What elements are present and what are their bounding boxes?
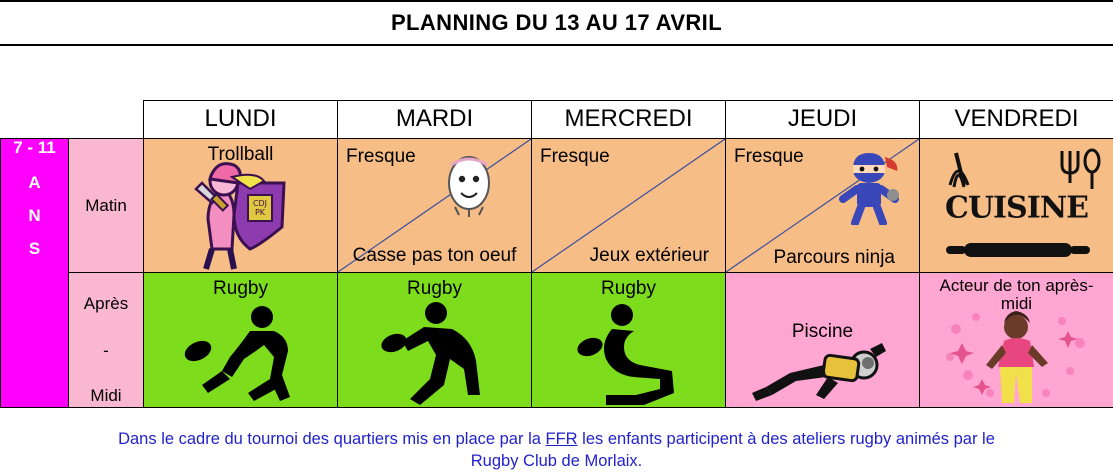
cell-afternoon-jeudi: Piscine bbox=[726, 273, 920, 408]
day-header-label: LUNDI bbox=[144, 101, 337, 137]
day-header-label: JEUDI bbox=[726, 101, 919, 137]
slot-label-line1: Après bbox=[69, 295, 143, 312]
age-letter-s: S bbox=[1, 240, 68, 257]
age-letter-a: A bbox=[1, 174, 68, 191]
rugby-player-icon bbox=[178, 301, 308, 407]
activity-label-primary: Acteur de ton après-midi bbox=[920, 277, 1113, 313]
egg-icon bbox=[437, 149, 501, 219]
day-header-jeudi: JEUDI bbox=[726, 101, 920, 139]
planning-page: PLANNING DU 13 AU 17 AVRIL LUNDI MARDI M… bbox=[0, 0, 1113, 471]
age-letter-n: N bbox=[1, 207, 68, 224]
ninja-icon bbox=[833, 145, 905, 225]
svg-text:CDJ: CDJ bbox=[253, 199, 267, 208]
table-header-row: LUNDI MARDI MERCREDI JEUDI VENDREDI bbox=[1, 101, 1113, 139]
planning-table: LUNDI MARDI MERCREDI JEUDI VENDREDI 7 - … bbox=[0, 100, 1113, 408]
cell-morning-mardi: Fresque Casse pas ton oeuf bbox=[338, 139, 532, 273]
title-bar: PLANNING DU 13 AU 17 AVRIL bbox=[0, 0, 1113, 46]
day-header-vendredi: VENDREDI bbox=[920, 101, 1113, 139]
cell-morning-vendredi: CUISINE bbox=[920, 139, 1113, 273]
cuisine-word: CUISINE bbox=[945, 191, 1088, 226]
day-header-label: VENDREDI bbox=[920, 101, 1113, 137]
footer-line-1: Dans le cadre du tournoi des quartiers m… bbox=[0, 428, 1113, 450]
activity-label-primary: Fresque bbox=[346, 147, 416, 167]
age-group-cell: 7 - 11 A N S bbox=[1, 139, 69, 408]
cell-afternoon-vendredi: Acteur de ton après-midi bbox=[920, 273, 1113, 408]
page-title: PLANNING DU 13 AU 17 AVRIL bbox=[391, 10, 722, 36]
slot-label-morning: Matin bbox=[69, 139, 144, 273]
footer-text-ffr: FFR bbox=[546, 430, 578, 448]
cell-morning-mercredi: Fresque Jeux extérieur bbox=[532, 139, 726, 273]
footer-line-2: Rugby Club de Morlaix. bbox=[0, 450, 1113, 472]
header-spacer-slot bbox=[69, 101, 144, 139]
rugby-player-icon bbox=[566, 299, 696, 407]
slot-label-line3: Midi bbox=[69, 387, 143, 404]
activity-label-secondary: Jeux extérieur bbox=[590, 246, 709, 266]
cell-afternoon-lundi: Rugby bbox=[144, 273, 338, 408]
activity-label-primary: Piscine bbox=[726, 322, 919, 342]
knight-icon: CDJ PK bbox=[172, 153, 312, 273]
cell-afternoon-mercredi: Rugby bbox=[532, 273, 726, 408]
activity-label-primary: Fresque bbox=[540, 147, 610, 167]
rugby-player-icon bbox=[372, 299, 502, 407]
slot-label-line2: - bbox=[69, 342, 143, 359]
activity-label-secondary: Casse pas ton oeuf bbox=[338, 246, 531, 266]
slot-label-afternoon: Après - Midi bbox=[69, 273, 144, 408]
header-spacer-age bbox=[1, 101, 69, 139]
cell-morning-lundi: Trollball CDJ PK bbox=[144, 139, 338, 273]
day-header-label: MERCREDI bbox=[532, 101, 725, 137]
activity-label-primary: Rugby bbox=[144, 279, 337, 299]
footer-text-a: Dans le cadre du tournoi des quartiers m… bbox=[118, 430, 545, 448]
day-header-mardi: MARDI bbox=[338, 101, 532, 139]
activity-label-secondary: Parcours ninja bbox=[774, 248, 895, 268]
cell-morning-jeudi: Fresque Parcours ninja bbox=[726, 139, 920, 273]
diver-icon bbox=[750, 343, 900, 405]
day-header-mercredi: MERCREDI bbox=[532, 101, 726, 139]
day-header-label: MARDI bbox=[338, 101, 531, 137]
age-range-label: 7 - 11 bbox=[1, 139, 68, 156]
footer-note: Dans le cadre du tournoi des quartiers m… bbox=[0, 425, 1113, 471]
footer-text-c: les enfants participent à des ateliers r… bbox=[578, 430, 995, 448]
cell-afternoon-mardi: Rugby bbox=[338, 273, 532, 408]
activity-label-primary: Rugby bbox=[532, 279, 725, 299]
actor-icon bbox=[942, 309, 1092, 405]
day-header-lundi: LUNDI bbox=[144, 101, 338, 139]
activity-label-primary: Fresque bbox=[734, 147, 804, 167]
activity-label-primary: Rugby bbox=[338, 279, 531, 299]
svg-text:PK: PK bbox=[255, 208, 266, 217]
morning-row: 7 - 11 A N S Matin Trollball CDJ PK bbox=[1, 139, 1113, 273]
afternoon-row: Après - Midi Rugby Rugby bbox=[1, 273, 1113, 408]
